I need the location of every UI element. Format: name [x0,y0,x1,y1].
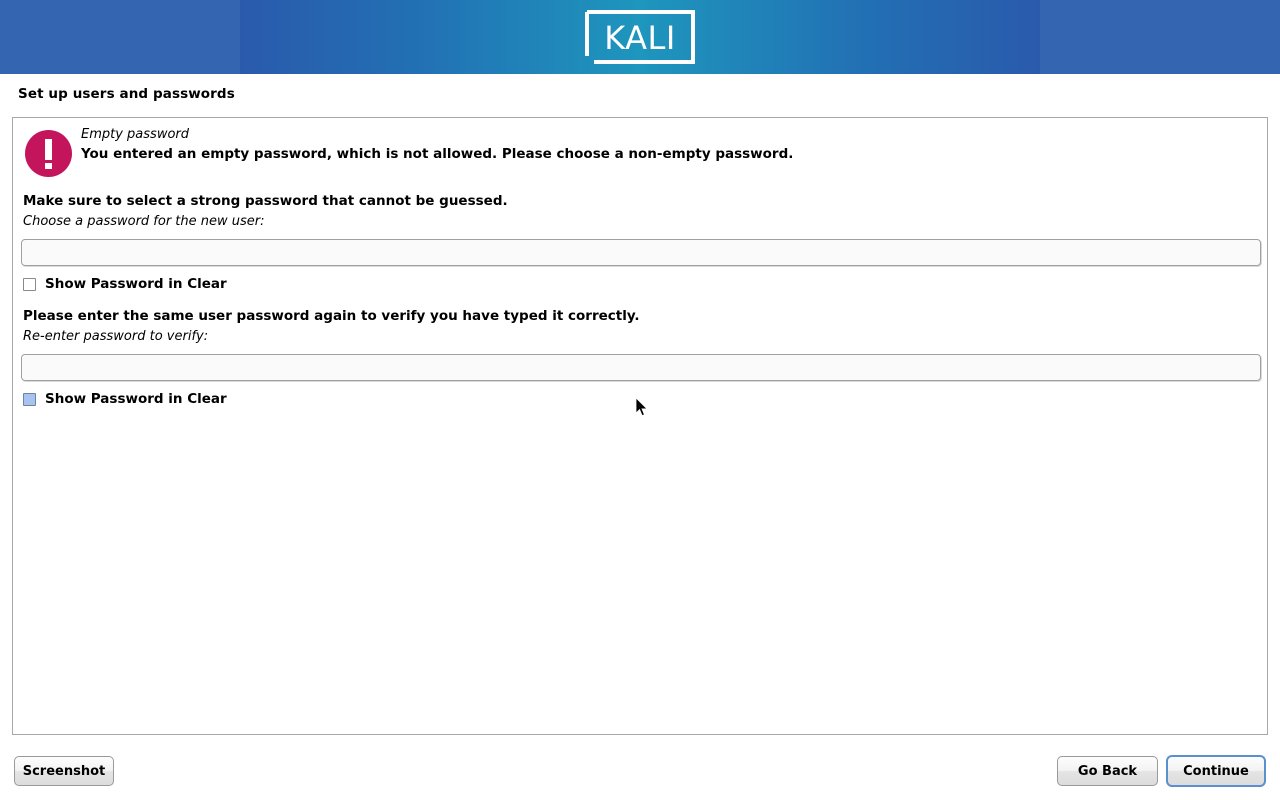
show-password-checkbox-row-1[interactable]: Show Password in Clear [23,276,227,292]
screenshot-button[interactable]: Screenshot [14,756,114,786]
password-input[interactable] [21,239,1261,266]
error-exclamation-icon [25,130,72,177]
continue-button[interactable]: Continue [1166,755,1266,787]
main-panel: Empty password You entered an empty pass… [12,117,1268,735]
show-password-checkbox-row-2[interactable]: Show Password in Clear [23,391,227,407]
kali-logo: KALI [583,8,697,66]
verify-password-hint: Please enter the same user password agai… [23,308,640,324]
exclamation-dot [45,163,52,169]
verify-password-input[interactable] [21,354,1261,381]
verify-field-label: Re-enter password to verify: [23,329,208,344]
go-back-button[interactable]: Go Back [1057,756,1158,786]
error-message: You entered an empty password, which is … [81,146,793,162]
show-password-label-1: Show Password in Clear [45,276,227,292]
error-title: Empty password [81,127,189,142]
exclamation-bar [45,139,52,160]
installer-screen: KALI Set up users and passwords Empty pa… [0,0,1280,800]
show-password-checkbox-1[interactable] [23,278,36,291]
error-banner: Empty password You entered an empty pass… [13,118,1269,192]
password-field-label: Choose a password for the new user: [23,214,265,229]
show-password-checkbox-2[interactable] [23,393,36,406]
kali-logo-text: KALI [604,19,676,57]
password-strength-hint: Make sure to select a strong password th… [23,193,508,209]
show-password-label-2: Show Password in Clear [45,391,227,407]
page-title: Set up users and passwords [18,86,235,102]
kali-banner: KALI [0,0,1280,74]
